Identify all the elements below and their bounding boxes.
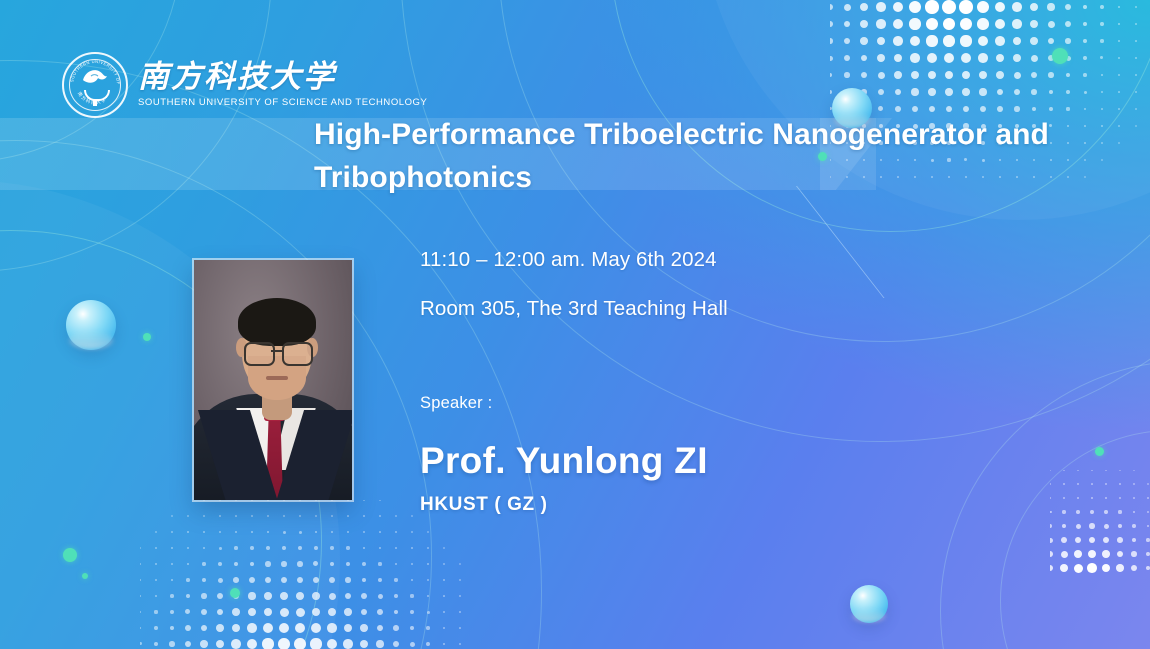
- seal-arc-text: SOUTHERN UNIVERSITY OF SCIENCE AND TECH …: [64, 54, 126, 116]
- photo-mouth: [266, 376, 288, 380]
- title-line-2: Tribophotonics: [314, 157, 1144, 200]
- speaker-photo: [194, 260, 352, 500]
- svg-text:南方科技大学: 南方科技大学: [76, 90, 108, 106]
- speaker-affiliation: HKUST ( GZ ): [420, 494, 548, 516]
- arc-bottom-right-2: [940, 360, 1150, 649]
- sphere-left: [66, 300, 116, 350]
- accent-dot-4: [143, 333, 151, 341]
- speaker-label: Speaker :: [420, 394, 492, 413]
- photo-glasses-right: [282, 342, 313, 366]
- accent-dot-8: [1095, 447, 1104, 456]
- photo-glasses-bridge: [271, 350, 282, 352]
- event-details: 11:10 – 12:00 am. May 6th 2024 Room 305,…: [420, 248, 728, 345]
- svg-text:SOUTHERN UNIVERSITY OF SCIENCE: SOUTHERN UNIVERSITY OF SCIENCE AND TECH: [64, 54, 121, 85]
- accent-dot-6: [82, 573, 88, 579]
- event-venue: Room 305, The 3rd Teaching Hall: [420, 297, 728, 322]
- speaker-name: Prof. Yunlong ZI: [420, 440, 708, 482]
- photo-hair: [238, 298, 316, 346]
- title-line-1: High-Performance Triboelectric Nanogener…: [314, 114, 1144, 157]
- photo-glasses-left: [244, 342, 275, 366]
- event-time: 11:10 – 12:00 am. May 6th 2024: [420, 248, 728, 273]
- title-band-diagonal: [796, 186, 985, 298]
- halftone-bottom-left: [140, 500, 470, 649]
- seminar-poster: SOUTHERN UNIVERSITY OF SCIENCE AND TECH …: [0, 0, 1150, 649]
- arc-bottom-right-1: [1000, 430, 1150, 649]
- halftone-bottom-right: [1050, 470, 1150, 580]
- arc-top-right-3: [400, 0, 1150, 442]
- arc-top-left-2: [0, 0, 272, 272]
- page-title: High-Performance Triboelectric Nanogener…: [314, 114, 1144, 199]
- university-name-cn: 南方科技大学: [138, 62, 427, 93]
- sustech-seal-icon: SOUTHERN UNIVERSITY OF SCIENCE AND TECH …: [62, 52, 128, 118]
- accent-dot-1: [1052, 48, 1068, 64]
- university-logo: SOUTHERN UNIVERSITY OF SCIENCE AND TECH …: [62, 52, 427, 118]
- accent-dot-7: [230, 588, 240, 598]
- accent-dot-5: [63, 548, 77, 562]
- sphere-bottom: [850, 585, 888, 623]
- university-name-en: SOUTHERN UNIVERSITY OF SCIENCE AND TECHN…: [138, 97, 427, 108]
